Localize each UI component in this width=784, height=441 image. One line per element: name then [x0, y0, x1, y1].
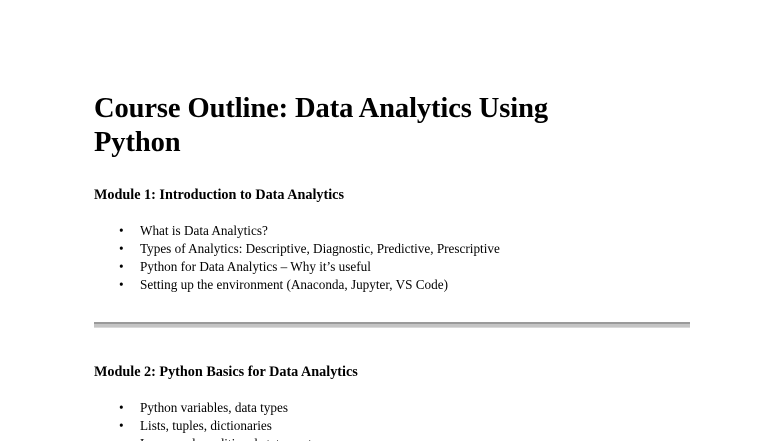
list-item-label: Loops and conditional statements: [140, 436, 317, 441]
section-heading-module-2: Module 2: Python Basics for Data Analyti…: [94, 363, 694, 381]
section-list-module-1: • What is Data Analytics? • Types of Ana…: [94, 222, 694, 294]
bullet-icon: •: [119, 399, 124, 417]
document-page: Course Outline: Data Analytics Using Pyt…: [0, 0, 784, 441]
list-item: • Python for Data Analytics – Why it’s u…: [94, 258, 694, 276]
list-item-label: Setting up the environment (Anaconda, Ju…: [140, 277, 448, 292]
list-item: • Setting up the environment (Anaconda, …: [94, 276, 694, 294]
list-item-label: Python for Data Analytics – Why it’s use…: [140, 259, 371, 274]
list-item-label: What is Data Analytics?: [140, 223, 268, 238]
document-content: Course Outline: Data Analytics Using Pyt…: [94, 0, 694, 441]
list-item-label: Lists, tuples, dictionaries: [140, 418, 272, 433]
section-module-2: Module 2: Python Basics for Data Analyti…: [94, 363, 694, 441]
section-list-module-2: • Python variables, data types • Lists, …: [94, 399, 694, 441]
list-item: • Lists, tuples, dictionaries: [94, 417, 694, 435]
bullet-icon: •: [119, 276, 124, 294]
section-heading-module-1: Module 1: Introduction to Data Analytics: [94, 186, 694, 204]
bullet-icon: •: [119, 258, 124, 276]
list-item-label: Types of Analytics: Descriptive, Diagnos…: [140, 241, 500, 256]
bullet-icon: •: [119, 222, 124, 240]
list-item: • What is Data Analytics?: [94, 222, 694, 240]
section-divider-wrapper: [94, 322, 694, 328]
list-item: • Types of Analytics: Descriptive, Diagn…: [94, 240, 694, 258]
bullet-icon: •: [119, 417, 124, 435]
horizontal-rule-divider: [94, 322, 690, 328]
page-title: Course Outline: Data Analytics Using Pyt…: [94, 0, 639, 159]
bullet-icon: •: [119, 435, 124, 441]
bullet-icon: •: [119, 240, 124, 258]
list-item: • Python variables, data types: [94, 399, 694, 417]
list-item-label: Python variables, data types: [140, 400, 288, 415]
list-item: • Loops and conditional statements: [94, 435, 694, 441]
